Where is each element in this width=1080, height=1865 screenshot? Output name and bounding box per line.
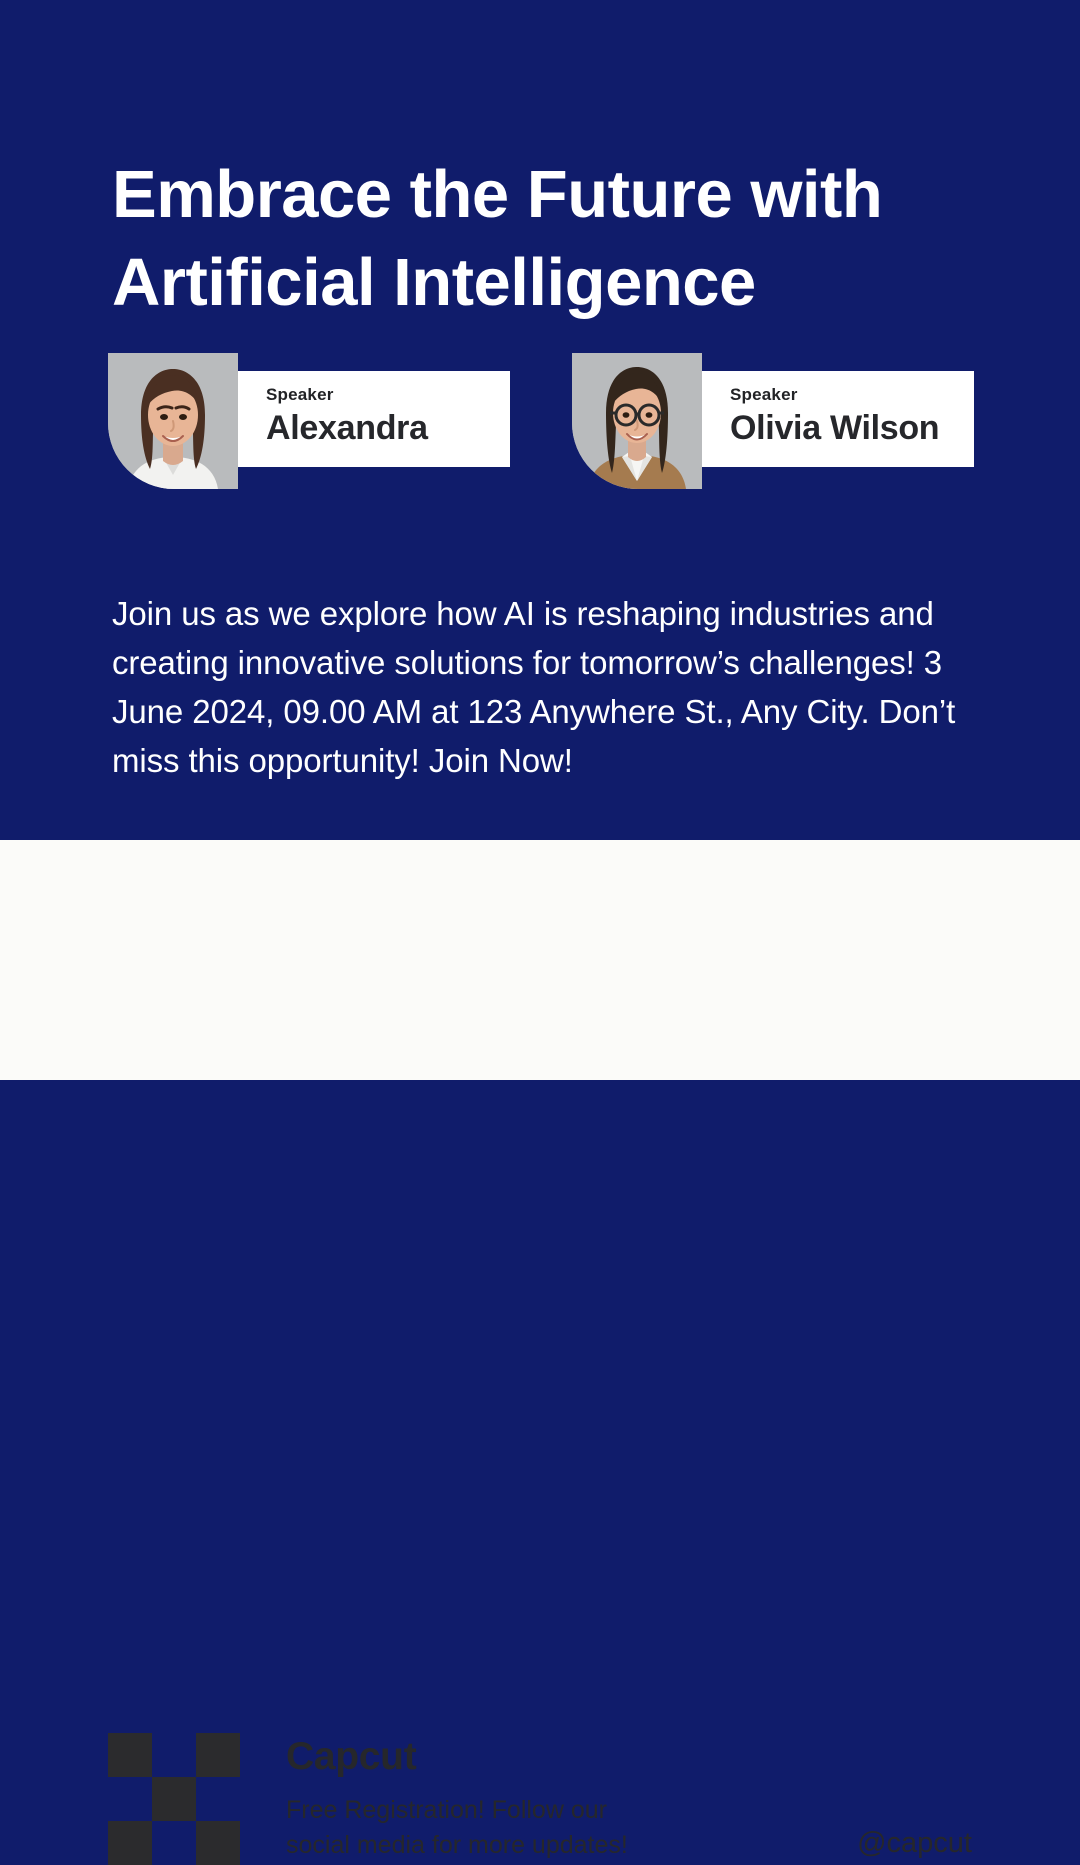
brand-block: Capcut Free Registration! Follow our soc…: [286, 1733, 766, 1863]
brand-tagline: Free Registration! Follow our social med…: [286, 1793, 766, 1863]
checkerboard-x-icon: [108, 1733, 240, 1865]
speaker-name: Olivia Wilson: [730, 407, 974, 449]
poster-canvas: Embrace the Future with Artificial Intel…: [0, 0, 1080, 1080]
speaker-card-alexandra: Speaker Alexandra: [108, 353, 510, 493]
social-handle[interactable]: @capcut: [857, 1826, 972, 1860]
speaker-photo-alexandra: [108, 353, 238, 489]
footer-section: Capcut Free Registration! Follow our soc…: [0, 840, 1080, 1080]
speaker-namecard-olivia-wilson: Speaker Olivia Wilson: [702, 371, 974, 467]
speaker-card-olivia-wilson: Speaker Olivia Wilson: [572, 353, 972, 493]
event-description: Join us as we explore how AI is reshapin…: [112, 589, 992, 785]
page-title: Embrace the Future with Artificial Intel…: [112, 151, 1012, 327]
speaker-photo-olivia-wilson: [572, 353, 702, 489]
speaker-namecard-alexandra: Speaker Alexandra: [238, 371, 510, 467]
speaker-role-label: Speaker: [730, 385, 974, 405]
hero-section: Embrace the Future with Artificial Intel…: [0, 0, 1080, 840]
speaker-list: Speaker Alexandra: [108, 353, 980, 493]
speaker-role-label: Speaker: [266, 385, 510, 405]
speaker-name: Alexandra: [266, 407, 510, 449]
brand-name: Capcut: [286, 1733, 766, 1781]
